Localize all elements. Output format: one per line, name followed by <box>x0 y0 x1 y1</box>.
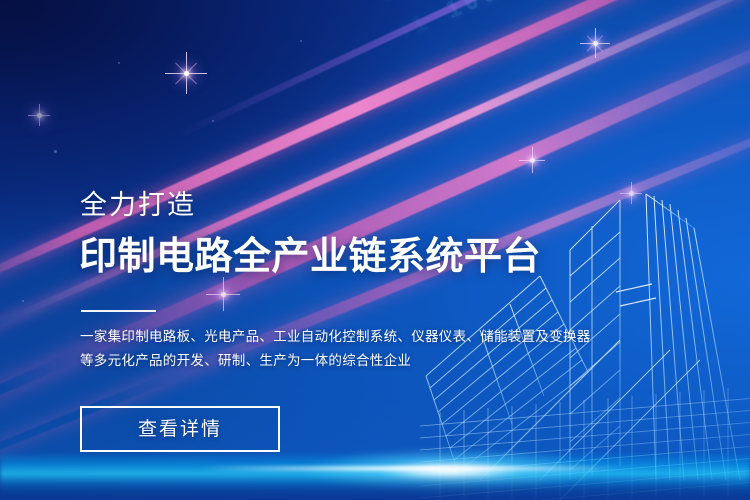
dust-particle <box>54 150 57 153</box>
hero-eyebrow: 全力打造 <box>80 192 196 219</box>
view-details-button[interactable]: 查看详情 <box>80 406 280 452</box>
hero-headline: 印制电路全产业链系统平台 <box>79 238 541 278</box>
hero-banner: 01 1001 01 0110 1 0010 1 01 1001 0 1101 … <box>0 0 750 500</box>
dust-particle <box>22 300 24 302</box>
hero-description: 一家集印制电路板、光电产品、工业自动化控制系统、仪器仪表、储能装置及变换器 等多… <box>80 325 600 373</box>
view-details-button-label: 查看详情 <box>138 420 222 439</box>
hero-description-line: 一家集印制电路板、光电产品、工业自动化控制系统、仪器仪表、储能装置及变换器 <box>80 325 600 349</box>
hero-divider <box>81 310 156 312</box>
hero-content: 全力打造 印制电路全产业链系统平台 一家集印制电路板、光电产品、工业自动化控制系… <box>80 0 680 500</box>
hero-description-line: 等多元化产品的开发、研制、生产为一体的综合性企业 <box>80 349 600 373</box>
